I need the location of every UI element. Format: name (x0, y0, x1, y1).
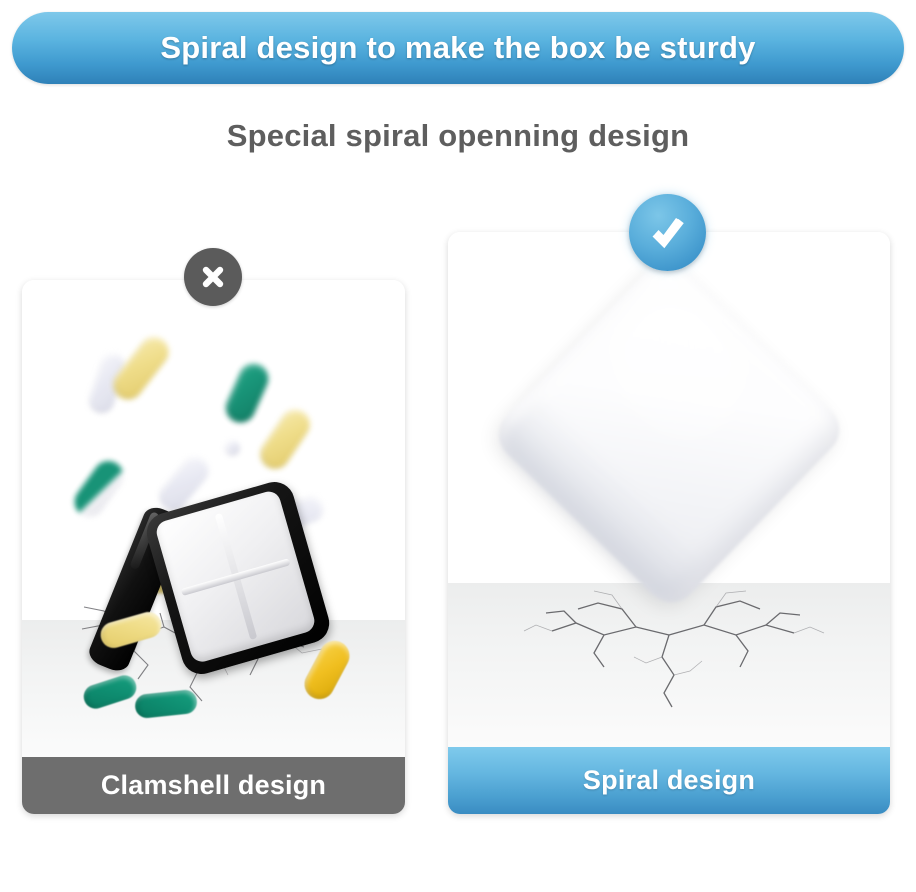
comparison-card-spiral: Spiral design (448, 232, 890, 814)
comparison-section: Clamshell design (0, 0, 916, 892)
spiral-box-wrapper (448, 232, 890, 702)
spiral-pill-box (488, 251, 850, 613)
clamshell-base (142, 477, 334, 678)
clamshell-tray (154, 489, 317, 665)
clamshell-scene (22, 280, 405, 757)
pill-capsule (254, 403, 316, 474)
check-icon (645, 210, 691, 256)
cross-badge (184, 248, 242, 306)
pill-capsule (224, 440, 240, 456)
pill-capsule (221, 359, 274, 428)
clamshell-label-bar: Clamshell design (22, 757, 405, 814)
spiral-label-bar: Spiral design (448, 747, 890, 814)
spiral-scene (448, 232, 890, 747)
spiral-label-text: Spiral design (583, 765, 755, 796)
cross-icon (198, 262, 228, 292)
comparison-card-clamshell: Clamshell design (22, 280, 405, 814)
check-badge (629, 194, 706, 271)
clamshell-label-text: Clamshell design (101, 770, 326, 801)
